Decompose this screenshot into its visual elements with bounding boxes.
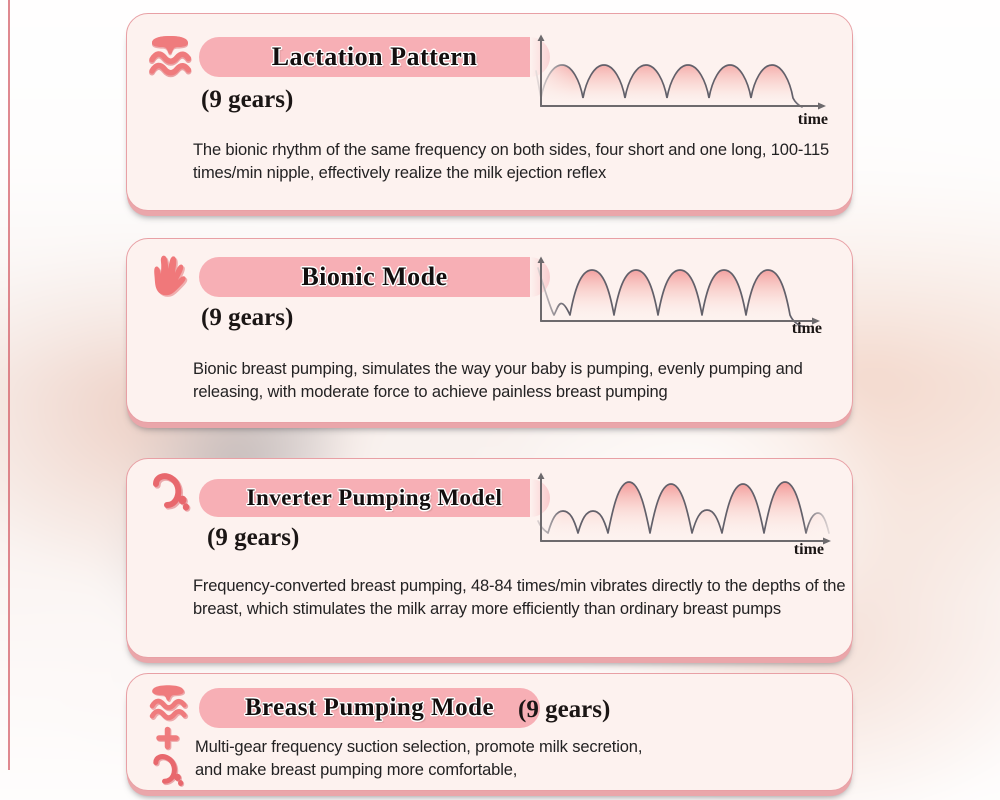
card-description: Frequency-converted breast pumping, 48-8… xyxy=(193,575,849,621)
card-description-line1: Multi-gear frequency suction selection, … xyxy=(195,736,835,759)
card-description-line2: and make breast pumping more comfortable… xyxy=(195,759,835,782)
icon-bionic-mode xyxy=(143,252,197,300)
time-axis-label: time xyxy=(798,111,828,129)
card-breast-pumping-mode[interactable]: Breast Pumping Mode (9 gears) Multi-gear… xyxy=(126,673,853,791)
waveform-inverter-pumping-model: time xyxy=(530,471,836,571)
card-inverter-pumping-model[interactable]: Inverter Pumping Model (9 gears) xyxy=(126,458,853,658)
inverter-icon xyxy=(148,471,192,521)
card-title: Breast Pumping Mode xyxy=(245,694,494,722)
card-bionic-mode[interactable]: Bionic Mode (9 gears) xyxy=(126,238,853,423)
title-pill-bionic-mode: Bionic Mode xyxy=(199,257,550,297)
hand-icon xyxy=(148,252,192,300)
waveform-lactation-pattern: time xyxy=(530,31,836,126)
breast-wave-icon xyxy=(147,30,193,82)
title-pill-breast-pumping-mode: Breast Pumping Mode xyxy=(199,688,540,728)
inverter-icon xyxy=(148,753,188,793)
card-title: Bionic Mode xyxy=(301,262,447,292)
card-description: The bionic rhythm of the same frequency … xyxy=(193,139,833,185)
title-pill-inverter-pumping-model: Inverter Pumping Model xyxy=(199,479,550,517)
card-title: Lactation Pattern xyxy=(272,42,478,72)
icon-inverter-pumping-model xyxy=(143,471,197,521)
card-description: Bionic breast pumping, simulates the way… xyxy=(193,358,843,404)
gears-label: (9 gears) xyxy=(518,696,610,724)
breast-wave-icon xyxy=(147,680,189,724)
time-axis-label: time xyxy=(794,541,824,559)
plus-icon xyxy=(154,726,182,752)
waveform-bionic-mode: time xyxy=(530,253,836,348)
gears-label: (9 gears) xyxy=(207,524,299,552)
card-title: Inverter Pumping Model xyxy=(247,485,503,511)
gears-label: (9 gears) xyxy=(201,86,293,114)
title-pill-lactation-pattern: Lactation Pattern xyxy=(199,37,550,77)
icon-breast-pumping-mode xyxy=(141,680,195,793)
time-axis-label: time xyxy=(792,320,822,338)
icon-lactation-pattern xyxy=(143,30,197,82)
card-lactation-pattern[interactable]: Lactation Pattern (9 gears) xyxy=(126,13,853,211)
gears-label: (9 gears) xyxy=(201,304,293,332)
